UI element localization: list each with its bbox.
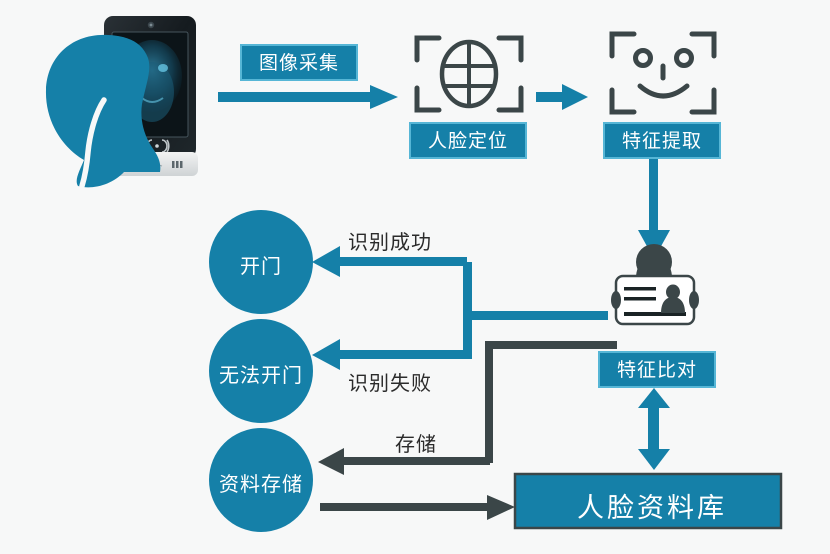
branch-store-path: [318, 341, 617, 475]
arrow-compare-database-bidirectional: [638, 388, 670, 470]
arrow-image-capture: [218, 85, 398, 109]
label-store: 存储: [395, 428, 437, 457]
branch-recognition-result: [312, 246, 608, 370]
label-feature-extract: 特征提取: [603, 122, 721, 159]
face-bracket-smile-icon: [612, 34, 714, 112]
arrow-locate-to-extract: [536, 84, 588, 110]
label-feature-compare: 特征比对: [598, 351, 716, 388]
label-cannot-open-door: 无法开门: [211, 359, 311, 388]
flowchart-svg: [0, 0, 830, 554]
label-image-capture: 图像采集: [240, 44, 358, 81]
label-face-locate: 人脸定位: [409, 122, 527, 159]
face-bracket-crosshair-icon: [417, 38, 521, 110]
label-recognition-success: 识别成功: [348, 226, 432, 255]
label-data-storage: 资料存储: [211, 468, 311, 497]
flowchart-canvas: 图像采集 人脸定位 特征提取 特征比对 开门 无法开门 资料存储 识别成功 识别…: [0, 0, 830, 554]
label-recognition-failure: 识别失败: [348, 367, 432, 396]
arrow-store-to-database: [320, 495, 515, 520]
terminal-device-illustration: [46, 16, 198, 187]
label-face-database: 人脸资料库: [577, 486, 727, 525]
label-open-door: 开门: [211, 250, 311, 279]
arrow-extract-to-compare: [638, 158, 670, 259]
id-card-person-icon: [611, 244, 699, 324]
